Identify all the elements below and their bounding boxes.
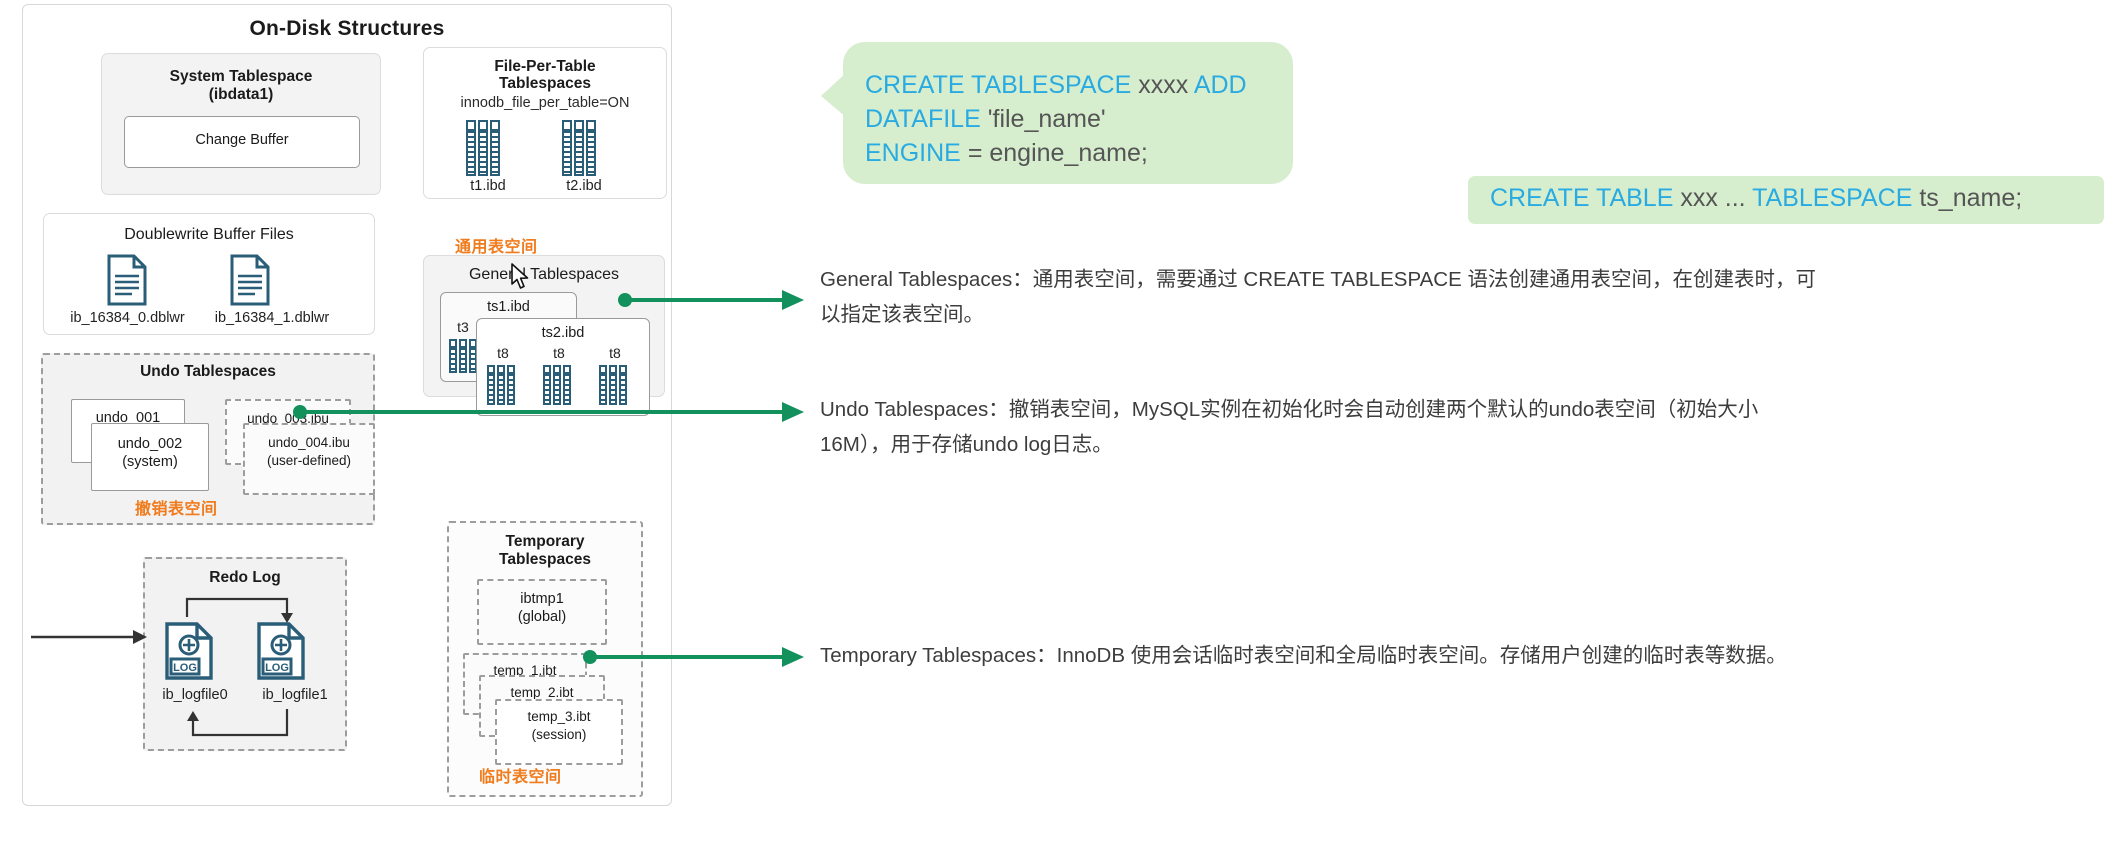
general-desc-line-1: General Tablespaces：通用表空间，需要通过 CREATE TA… (820, 262, 2090, 297)
ts2-box: ts2.ibd t8 t8 t8 (476, 318, 650, 416)
redo-bottom-arrow-icon (145, 705, 345, 747)
change-buffer-label: Change Buffer (125, 132, 359, 149)
undo-cn-tag: 撤销表空间 (135, 495, 218, 519)
file-icon-dblwr-1 (229, 254, 271, 306)
log-file-icon-0: LOG (163, 621, 215, 681)
system-tablespace-panel: System Tablespace (ibdata1) Change Buffe… (101, 53, 381, 195)
file-icon-dblwr-0 (106, 254, 148, 306)
temporary-title-1: Temporary (449, 533, 641, 551)
undo-tablespaces-description: Undo Tablespaces：撤销表空间，MySQL实例在初始化时会自动创建… (820, 392, 2090, 463)
ts2-name: ts2.ibd (477, 325, 649, 342)
bubble-tail-icon (821, 66, 847, 126)
ibtmp1-note: (global) (479, 609, 605, 626)
general-tablespaces-description: General Tablespaces：通用表空间，需要通过 CREATE TA… (820, 262, 2090, 333)
table-icon-t1 (466, 120, 500, 176)
ts1-name: ts1.ibd (441, 299, 576, 316)
undo-002-note: (system) (92, 454, 208, 471)
on-disk-structures-frame: On-Disk Structures System Tablespace (ib… (22, 4, 672, 806)
file-per-table-subtitle: innodb_file_per_table=ON (424, 95, 666, 111)
undo-desc-line-2: 16M），用于存储undo log日志。 (820, 427, 2090, 462)
ibtmp1-name: ibtmp1 (479, 591, 605, 608)
val-datafile: 'file_name' (988, 105, 1106, 133)
create-tablespace-bubble: CREATE TABLESPACE xxxx ADD DATAFILE 'fil… (843, 42, 1293, 184)
undo-004-box: undo_004.ibu (user-defined) (243, 423, 375, 495)
table-icon-t2 (562, 120, 596, 176)
undo-002-label: undo_002 (92, 436, 208, 453)
undo-004-note: (user-defined) (245, 453, 373, 469)
undo-tablespaces-panel: Undo Tablespaces undo_001 undo_002 (syst… (41, 353, 375, 525)
mouse-cursor-icon (511, 263, 531, 291)
file-per-table-file-1: t2.ibd (544, 178, 624, 194)
file-per-table-file-0: t1.ibd (448, 178, 528, 194)
temporary-tablespaces-panel: Temporary Tablespaces ibtmp1 (global) te… (447, 521, 643, 797)
ts2-table-0: t8 (485, 345, 521, 361)
change-buffer-box: Change Buffer (124, 116, 360, 168)
kw-create-table: CREATE TABLE (1490, 184, 1673, 212)
undo-002-box: undo_002 (system) (91, 423, 209, 491)
general-tablespaces-title: General Tablespaces (424, 266, 664, 285)
general-tablespaces-panel: General Tablespaces ts1.ibd t3 t4 t5 ts2… (423, 255, 665, 397)
temp-3-name: temp_3.ibt (497, 709, 621, 725)
temp-3-box: temp_3.ibt (session) (495, 699, 623, 765)
val-engine: = engine_name; (968, 139, 1148, 167)
ts2-table-1: t8 (541, 345, 577, 361)
create-table-bubble: CREATE TABLE xxx ... TABLESPACE ts_name; (1468, 176, 2104, 224)
log-file-icon-1: LOG (255, 621, 307, 681)
redo-log-title: Redo Log (145, 569, 345, 587)
temp-3-note: (session) (497, 727, 621, 743)
redo-file-1: ib_logfile1 (245, 687, 345, 703)
doublewrite-file-1: ib_16384_1.dblwr (172, 310, 372, 326)
general-desc-line-2: 以指定该表空间。 (820, 297, 2090, 332)
file-per-table-title-2: Tablespaces (424, 75, 666, 93)
ts2-table-icon-1 (543, 365, 571, 405)
doublewrite-buffer-panel: Doublewrite Buffer Files ib_16384_0.dblw… (43, 213, 375, 335)
temporary-title-2: Tablespaces (449, 551, 641, 569)
redo-incoming-arrow-icon (31, 625, 151, 649)
val-create-table: xxx ... (1680, 184, 1745, 212)
file-per-table-title-1: File-Per-Table (424, 58, 666, 76)
val-tablespace: ts_name; (1919, 184, 2022, 212)
ibtmp1-box: ibtmp1 (global) (477, 579, 607, 645)
system-tablespace-title: System Tablespace (102, 68, 380, 86)
val-create-tablespace: xxxx (1138, 71, 1188, 99)
svg-text:LOG: LOG (265, 662, 289, 674)
general-cn-tag: 通用表空间 (455, 233, 538, 257)
file-per-table-panel: File-Per-Table Tablespaces innodb_file_p… (423, 47, 667, 199)
page-title: On-Disk Structures (23, 17, 671, 41)
kw-tablespace: TABLESPACE (1752, 184, 1912, 212)
kw-datafile: DATAFILE (865, 105, 981, 133)
ts2-table-icon-2 (599, 365, 627, 405)
redo-log-panel: Redo Log LOG ib_logfile0 LOG ib_logfile1 (143, 557, 347, 751)
undo-004-label: undo_004.ibu (245, 435, 373, 451)
temporary-cn-tag: 临时表空间 (479, 763, 562, 787)
ts2-table-icon-0 (487, 365, 515, 405)
kw-create-tablespace: CREATE TABLESPACE (865, 71, 1131, 99)
system-tablespace-subtitle: (ibdata1) (102, 86, 380, 104)
svg-text:LOG: LOG (173, 662, 197, 674)
undo-desc-line-1: Undo Tablespaces：撤销表空间，MySQL实例在初始化时会自动创建… (820, 392, 2090, 427)
temp-desc-line-1: Temporary Tablespaces：InnoDB 使用会话临时表空间和全… (820, 638, 2090, 673)
redo-file-0: ib_logfile0 (145, 687, 245, 703)
kw-add: ADD (1194, 71, 1247, 99)
undo-tablespaces-title: Undo Tablespaces (43, 363, 373, 381)
kw-engine: ENGINE (865, 139, 961, 167)
temporary-tablespaces-description: Temporary Tablespaces：InnoDB 使用会话临时表空间和全… (820, 638, 2090, 673)
ts2-table-2: t8 (597, 345, 633, 361)
doublewrite-title: Doublewrite Buffer Files (44, 226, 374, 245)
ts1-table-icon (449, 339, 477, 373)
